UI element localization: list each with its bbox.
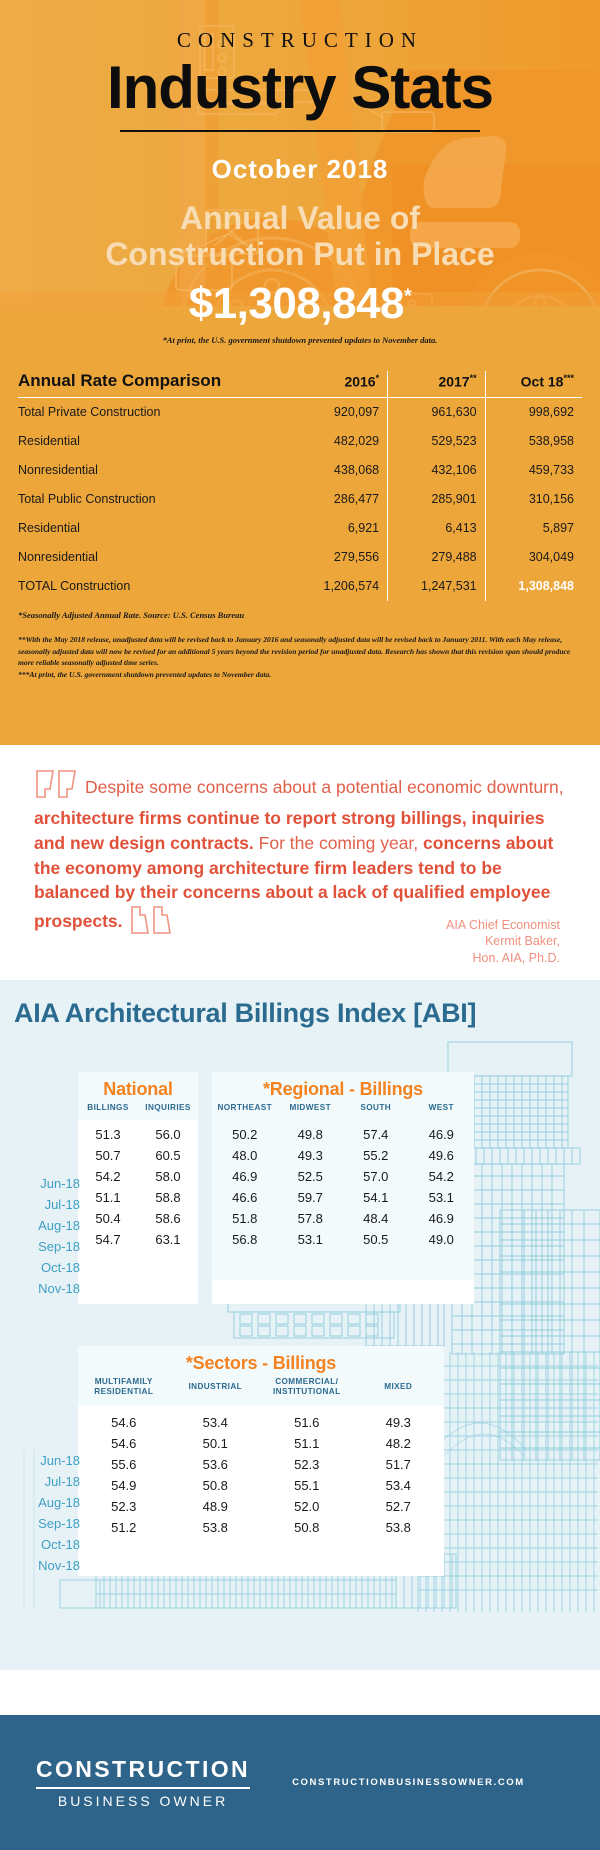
cell-2017: 285,901	[388, 485, 486, 514]
cell-industrial: 53.6	[170, 1457, 262, 1472]
abi-section: AIA Architectural Billings Index [ABI] J…	[0, 980, 600, 1670]
cell-northeast: 50.2	[212, 1127, 278, 1142]
table-row: Nonresidential 279,556 279,488 304,049	[18, 543, 582, 572]
cell-mixed: 53.8	[353, 1520, 445, 1535]
cell-industrial: 53.8	[170, 1520, 262, 1535]
table-row: Total Public Construction 286,477 285,90…	[18, 485, 582, 514]
title-divider	[120, 130, 480, 132]
page-title: Industry Stats	[0, 57, 600, 118]
cell-northeast: 46.6	[212, 1190, 278, 1205]
national-rows: 51.3 56.0 50.7 60.5 54.2 58.0 51.1 58.8 …	[78, 1120, 198, 1250]
col-header-2016: 2016*	[291, 371, 388, 398]
cell-oct18: 5,897	[485, 514, 582, 543]
cell-2017: 432,106	[388, 456, 486, 485]
hero-subhead-line1: Annual Value of	[180, 200, 420, 236]
col-header-2017-marker: **	[470, 373, 477, 383]
cell-billings: 51.1	[78, 1190, 138, 1205]
cell-2016: 482,029	[291, 427, 388, 456]
logo-divider	[36, 1787, 250, 1789]
row-label: Nonresidential	[18, 543, 291, 572]
cell-commercial: 52.3	[261, 1457, 353, 1472]
data-row: 51.3 56.0	[78, 1124, 198, 1145]
row-label: Total Public Construction	[18, 485, 291, 514]
cell-inquiries: 56.0	[138, 1127, 198, 1142]
headline-value: $1,308,848*	[0, 279, 600, 329]
cell-commercial: 51.1	[261, 1436, 353, 1451]
cell-billings: 51.3	[78, 1127, 138, 1142]
regional-card-title: *Regional - Billings	[212, 1079, 474, 1100]
month-label: Jul-18	[14, 1471, 80, 1492]
cell-mixed: 51.7	[353, 1457, 445, 1472]
cell-billings: 54.7	[78, 1232, 138, 1247]
national-card-header: National BILLINGS INQUIRIES	[78, 1072, 198, 1120]
infographic-page: CONSTRUCTION Industry Stats October 2018…	[0, 0, 600, 1850]
cell-multifamily: 52.3	[78, 1499, 170, 1514]
col-header-industrial: INDUSTRIAL	[170, 1382, 262, 1392]
col-header-south: SOUTH	[343, 1103, 409, 1113]
cell-2017: 6,413	[388, 514, 486, 543]
cell-commercial: 51.6	[261, 1415, 353, 1430]
col-header-mixed: MIXED	[353, 1382, 445, 1392]
cell-billings: 50.4	[78, 1211, 138, 1226]
cell-mixed: 49.3	[353, 1415, 445, 1430]
logo-line-2: BUSINESS OWNER	[36, 1793, 250, 1809]
col-header-west: WEST	[409, 1103, 475, 1113]
data-row: 51.2 53.8 50.8 53.8	[78, 1517, 444, 1538]
cell-northeast: 56.8	[212, 1232, 278, 1247]
cell-inquiries: 63.1	[138, 1232, 198, 1247]
cell-south: 54.1	[343, 1190, 409, 1205]
abi-month-labels-top: Jun-18 Jul-18 Aug-18 Sep-18 Oct-18 Nov-1…	[14, 1173, 80, 1299]
hero-subhead-line2: Construction Put in Place	[105, 236, 494, 272]
data-row: 46.6 59.7 54.1 53.1	[212, 1187, 474, 1208]
hero-subhead: Annual Value of Construction Put in Plac…	[0, 201, 600, 273]
month-label: Aug-18	[14, 1215, 80, 1236]
cell-west: 46.9	[409, 1127, 475, 1142]
data-row: 54.9 50.8 55.1 53.4	[78, 1475, 444, 1496]
col-header-commercial-institutional: COMMERCIAL/ INSTITUTIONAL	[261, 1377, 353, 1396]
logo-line-1: CONSTRUCTION	[36, 1756, 250, 1783]
data-row: 56.8 53.1 50.5 49.0	[212, 1229, 474, 1250]
sectors-card-title: *Sectors - Billings	[78, 1353, 444, 1374]
cell-oct18: 310,156	[485, 485, 582, 514]
col-header-billings: BILLINGS	[78, 1103, 138, 1113]
cell-midwest: 49.3	[278, 1148, 344, 1163]
month-label: Oct-18	[14, 1257, 80, 1278]
col-header-2017: 2017**	[388, 371, 486, 398]
annual-table-title: Annual Rate Comparison	[18, 371, 291, 398]
cell-oct18: 998,692	[485, 397, 582, 427]
month-label: Nov-18	[14, 1555, 80, 1576]
national-card: National BILLINGS INQUIRIES 51.3 56.0 50…	[78, 1072, 198, 1304]
regional-column-headers: NORTHEAST MIDWEST SOUTH WEST	[212, 1100, 474, 1120]
cell-midwest: 53.1	[278, 1232, 344, 1247]
data-row: 51.8 57.8 48.4 46.9	[212, 1208, 474, 1229]
data-row: 50.4 58.6	[78, 1208, 198, 1229]
regional-card-header: *Regional - Billings NORTHEAST MIDWEST S…	[212, 1072, 474, 1120]
cell-west: 49.0	[409, 1232, 475, 1247]
attribution-line-2: Kermit Baker,	[446, 933, 560, 950]
col-header-2016-marker: *	[376, 373, 380, 383]
cell-multifamily: 54.6	[78, 1436, 170, 1451]
sectors-column-headers: MULTIFAMILY RESIDENTIAL INDUSTRIAL COMME…	[78, 1374, 444, 1404]
cell-midwest: 57.8	[278, 1211, 344, 1226]
cell-2016: 438,068	[291, 456, 388, 485]
cell-oct18: 304,049	[485, 543, 582, 572]
sectors-card: *Sectors - Billings MULTIFAMILY RESIDENT…	[78, 1346, 444, 1576]
cell-inquiries: 58.8	[138, 1190, 198, 1205]
data-row: 48.0 49.3 55.2 49.6	[212, 1145, 474, 1166]
col-header-oct18-marker: ***	[563, 373, 574, 383]
cell-oct18: 538,958	[485, 427, 582, 456]
cell-south: 50.5	[343, 1232, 409, 1247]
cell-multifamily: 55.6	[78, 1457, 170, 1472]
cell-mixed: 48.2	[353, 1436, 445, 1451]
data-row: 54.7 63.1	[78, 1229, 198, 1250]
col-header-2017-label: 2017	[438, 373, 469, 389]
cell-multifamily: 54.6	[78, 1415, 170, 1430]
row-label: Total Private Construction	[18, 397, 291, 427]
headline-value-number: $1,308,848	[189, 279, 404, 328]
regional-card: *Regional - Billings NORTHEAST MIDWEST S…	[212, 1072, 474, 1304]
col-header-oct18: Oct 18***	[485, 371, 582, 398]
report-month: October 2018	[0, 154, 600, 185]
month-label: Oct-18	[14, 1534, 80, 1555]
data-row: 54.6 50.1 51.1 48.2	[78, 1433, 444, 1454]
cell-2017: 279,488	[388, 543, 486, 572]
cell-2016: 920,097	[291, 397, 388, 427]
data-row: 46.9 52.5 57.0 54.2	[212, 1166, 474, 1187]
cell-west: 49.6	[409, 1148, 475, 1163]
table-footnote-1: *Seasonally Adjusted Annual Rate. Source…	[18, 610, 582, 620]
cell-billings: 50.7	[78, 1148, 138, 1163]
quote-part-1: Despite some concerns about a potential …	[85, 777, 564, 797]
attribution-line-3: Hon. AIA, Ph.D.	[446, 950, 560, 967]
table-footnote-2: **With the May 2018 release, unadjusted …	[18, 634, 582, 681]
col-header-2016-label: 2016	[344, 373, 375, 389]
table-row: Residential 6,921 6,413 5,897	[18, 514, 582, 543]
footnote-2-text: **With the May 2018 release, unadjusted …	[18, 635, 570, 668]
hero-section: CONSTRUCTION Industry Stats October 2018…	[0, 0, 600, 745]
data-row: 50.7 60.5	[78, 1145, 198, 1166]
open-quote-icon	[34, 769, 80, 806]
website-url[interactable]: CONSTRUCTIONBUSINESSOWNER.COM	[292, 1777, 525, 1788]
national-column-headers: BILLINGS INQUIRIES	[78, 1100, 198, 1120]
sectors-rows: 54.6 53.4 51.6 49.3 54.6 50.1 51.1 48.2 …	[78, 1406, 444, 1538]
headline-value-marker: *	[404, 285, 411, 307]
month-label: Nov-18	[14, 1278, 80, 1299]
cell-mixed: 53.4	[353, 1478, 445, 1493]
table-row: Nonresidential 438,068 432,106 459,733	[18, 456, 582, 485]
cell-northeast: 51.8	[212, 1211, 278, 1226]
cell-multifamily: 51.2	[78, 1520, 170, 1535]
cell-multifamily: 54.9	[78, 1478, 170, 1493]
cell-billings: 54.2	[78, 1169, 138, 1184]
cell-south: 57.4	[343, 1127, 409, 1142]
data-row: 50.2 49.8 57.4 46.9	[212, 1124, 474, 1145]
footnote-3-text: ***At print, the U.S. government shutdow…	[18, 670, 271, 679]
cell-oct18: 459,733	[485, 456, 582, 485]
row-label: TOTAL Construction	[18, 572, 291, 601]
cell-commercial: 50.8	[261, 1520, 353, 1535]
table-row: Residential 482,029 529,523 538,958	[18, 427, 582, 456]
month-label: Jun-18	[14, 1173, 80, 1194]
cbo-logo[interactable]: CONSTRUCTION BUSINESS OWNER	[0, 1756, 250, 1809]
cell-midwest: 49.8	[278, 1127, 344, 1142]
cell-midwest: 52.5	[278, 1169, 344, 1184]
cell-midwest: 59.7	[278, 1190, 344, 1205]
cell-south: 48.4	[343, 1211, 409, 1226]
quote-section: Despite some concerns about a potential …	[0, 745, 600, 980]
cell-mixed: 52.7	[353, 1499, 445, 1514]
col-header-oct18-label: Oct 18	[521, 373, 564, 389]
cell-2017: 1,247,531	[388, 572, 486, 601]
cell-industrial: 48.9	[170, 1499, 262, 1514]
month-label: Sep-18	[14, 1513, 80, 1534]
data-row: 51.1 58.8	[78, 1187, 198, 1208]
cell-west: 53.1	[409, 1190, 475, 1205]
quote-attribution: AIA Chief Economist Kermit Baker, Hon. A…	[446, 917, 560, 967]
col-header-multifamily-residential: MULTIFAMILY RESIDENTIAL	[78, 1377, 170, 1396]
abi-month-labels-bottom: Jun-18 Jul-18 Aug-18 Sep-18 Oct-18 Nov-1…	[14, 1450, 80, 1576]
close-quote-icon	[129, 905, 175, 942]
attribution-line-1: AIA Chief Economist	[446, 917, 560, 934]
table-row-total: TOTAL Construction 1,206,574 1,247,531 1…	[18, 572, 582, 601]
cell-south: 55.2	[343, 1148, 409, 1163]
cell-inquiries: 60.5	[138, 1148, 198, 1163]
month-label: Jul-18	[14, 1194, 80, 1215]
cell-industrial: 53.4	[170, 1415, 262, 1430]
national-card-title: National	[78, 1079, 198, 1100]
cell-northeast: 46.9	[212, 1169, 278, 1184]
row-label: Nonresidential	[18, 456, 291, 485]
hero-print-note: *At print, the U.S. government shutdown …	[0, 335, 600, 345]
annual-rate-table: Annual Rate Comparison 2016* 2017** Oct …	[18, 371, 582, 601]
cell-west: 54.2	[409, 1169, 475, 1184]
data-row: 55.6 53.6 52.3 51.7	[78, 1454, 444, 1475]
hero-kicker: CONSTRUCTION	[0, 28, 600, 53]
month-label: Jun-18	[14, 1450, 80, 1471]
data-row: 52.3 48.9 52.0 52.7	[78, 1496, 444, 1517]
sectors-card-header: *Sectors - Billings MULTIFAMILY RESIDENT…	[78, 1346, 444, 1406]
month-label: Aug-18	[14, 1492, 80, 1513]
data-row: 54.6 53.4 51.6 49.3	[78, 1412, 444, 1433]
col-header-northeast: NORTHEAST	[212, 1103, 278, 1113]
cell-2016: 1,206,574	[291, 572, 388, 601]
cell-2017: 529,523	[388, 427, 486, 456]
cell-industrial: 50.1	[170, 1436, 262, 1451]
data-row: 54.2 58.0	[78, 1166, 198, 1187]
cell-oct18-total: 1,308,848	[485, 572, 582, 601]
cell-inquiries: 58.6	[138, 1211, 198, 1226]
col-header-midwest: MIDWEST	[278, 1103, 344, 1113]
annual-rate-table-wrapper: Annual Rate Comparison 2016* 2017** Oct …	[18, 371, 582, 601]
cell-south: 57.0	[343, 1169, 409, 1184]
col-header-inquiries: INQUIRIES	[138, 1103, 198, 1113]
cell-northeast: 48.0	[212, 1148, 278, 1163]
cell-inquiries: 58.0	[138, 1169, 198, 1184]
table-header-row: Annual Rate Comparison 2016* 2017** Oct …	[18, 371, 582, 398]
cell-industrial: 50.8	[170, 1478, 262, 1493]
row-label: Residential	[18, 514, 291, 543]
quote-part-2: For the coming year,	[254, 833, 423, 853]
footer: CONSTRUCTION BUSINESS OWNER CONSTRUCTION…	[0, 1715, 600, 1850]
cell-commercial: 52.0	[261, 1499, 353, 1514]
regional-rows: 50.2 49.8 57.4 46.9 48.0 49.3 55.2 49.6 …	[212, 1120, 474, 1280]
cell-commercial: 55.1	[261, 1478, 353, 1493]
cell-2016: 6,921	[291, 514, 388, 543]
cell-west: 46.9	[409, 1211, 475, 1226]
cell-2016: 279,556	[291, 543, 388, 572]
abi-title: AIA Architectural Billings Index [ABI]	[0, 980, 600, 1029]
cell-2017: 961,630	[388, 397, 486, 427]
table-row: Total Private Construction 920,097 961,6…	[18, 397, 582, 427]
cell-2016: 286,477	[291, 485, 388, 514]
row-label: Residential	[18, 427, 291, 456]
month-label: Sep-18	[14, 1236, 80, 1257]
